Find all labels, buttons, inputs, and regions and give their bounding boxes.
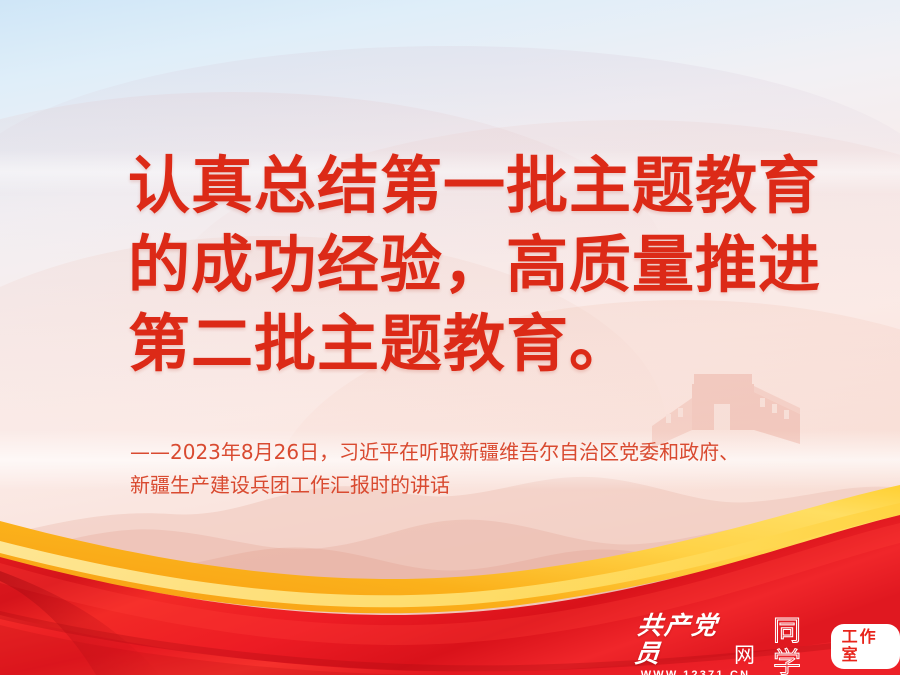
site-logo-url: WWW.12371.CN [641, 669, 751, 675]
headline: 认真总结第一批主题教育 的成功经验，高质量推进 第二批主题教育。 [128, 146, 828, 383]
logo-block: 共产党员 网 WWW.12371.CN 同学 工作室 [636, 612, 900, 675]
site-logo-name-row: 共产党员 网 [636, 612, 755, 668]
site-logo-suffix: 网 [734, 642, 755, 668]
studio-logo-badge: 工作室 [831, 624, 900, 669]
site-logo-calligraphy: 共产党员 [633, 612, 734, 668]
headline-line-2: 的成功经验，高质量推进 [128, 225, 828, 304]
headline-line-3: 第二批主题教育。 [128, 304, 828, 383]
poster-canvas: 认真总结第一批主题教育 的成功经验，高质量推进 第二批主题教育。 ——2023年… [0, 0, 900, 675]
studio-logo-name: 同学 [773, 615, 826, 675]
site-logo[interactable]: 共产党员 网 WWW.12371.CN [636, 612, 755, 675]
headline-line-1: 认真总结第一批主题教育 [128, 146, 828, 225]
attribution-line-1: ——2023年8月26日，习近平在听取新疆维吾尔自治区党委和政府、 [130, 436, 850, 469]
studio-logo[interactable]: 同学 工作室 [773, 615, 900, 675]
